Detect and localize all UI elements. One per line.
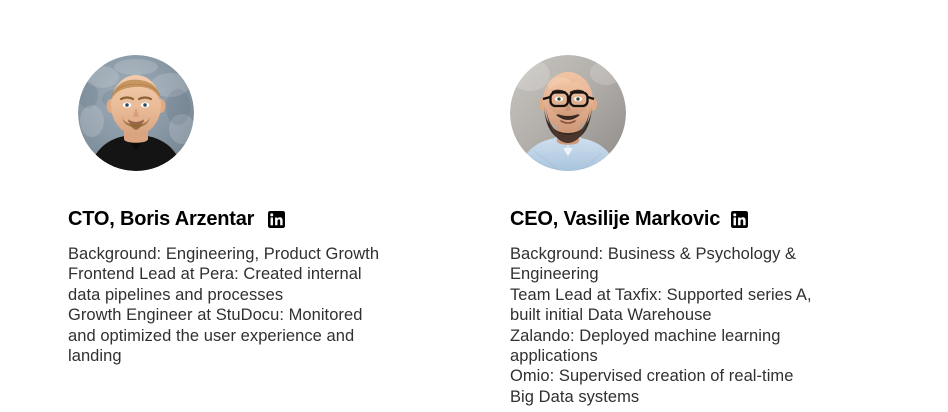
bio-line: Background: Business & Psychology & — [510, 244, 870, 264]
profile-name-ceo: CEO, Vasilije Markovic — [510, 207, 720, 231]
profile-card-ceo: CEO, Vasilije Markovic Background: Busin… — [510, 0, 870, 407]
profile-bio-ceo: Background: Business & Psychology & Engi… — [510, 244, 870, 407]
profile-heading-cto: CTO, Boris Arzentar — [68, 207, 413, 231]
bio-line: and optimized the user experience and — [68, 326, 413, 346]
linkedin-icon[interactable] — [731, 211, 748, 228]
bio-line: applications — [510, 346, 870, 366]
bio-line: Background: Engineering, Product Growth — [68, 244, 413, 264]
avatar-boris-arzentar — [78, 55, 194, 171]
bio-line: Engineering — [510, 264, 870, 284]
bio-line: Big Data systems — [510, 387, 870, 407]
profile-name-cto: CTO, Boris Arzentar — [68, 207, 254, 231]
bio-line: Omio: Supervised creation of real-time — [510, 366, 870, 386]
linkedin-icon[interactable] — [268, 211, 285, 228]
profile-card-cto: CTO, Boris Arzentar Background: Engineer… — [68, 0, 413, 366]
bio-line: Frontend Lead at Pera: Created internal — [68, 264, 413, 284]
profile-bio-cto: Background: Engineering, Product Growth … — [68, 244, 413, 366]
bio-line: data pipelines and processes — [68, 285, 413, 305]
team-profiles-section: CTO, Boris Arzentar Background: Engineer… — [0, 0, 948, 412]
bio-line: Team Lead at Taxfix: Supported series A, — [510, 285, 870, 305]
avatar-vasilije-markovic — [510, 55, 626, 171]
profile-heading-ceo: CEO, Vasilije Markovic — [510, 207, 870, 231]
bio-line: Zalando: Deployed machine learning — [510, 326, 870, 346]
bio-line: built initial Data Warehouse — [510, 305, 870, 325]
bio-line: Growth Engineer at StuDocu: Monitored — [68, 305, 413, 325]
bio-line: landing — [68, 346, 413, 366]
